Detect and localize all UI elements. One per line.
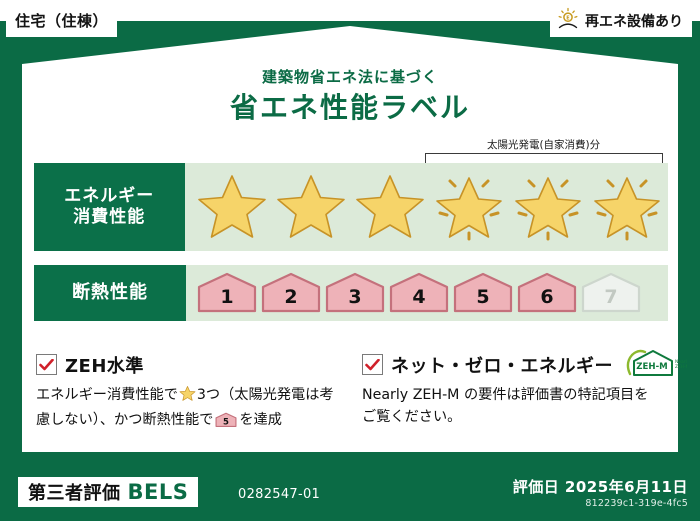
- bels-jp-label: 第三者評価: [28, 479, 121, 505]
- insulation-label: 断熱性能: [72, 282, 148, 305]
- energy-performance-label-cell: エネルギー 消費性能: [34, 163, 185, 251]
- building-type-label: 住宅（住棟）: [15, 10, 108, 31]
- zeh-m-logo-icon: ZEH-M Nearly ZEH-M: [623, 348, 687, 382]
- insulation-badge: 1: [196, 272, 258, 314]
- zeh-standard-section: ZEH水準 エネルギー消費性能で3つ（太陽光発電は考慮しない）、かつ断熱性能で5…: [36, 352, 336, 435]
- zeh-standard-heading-row: ZEH水準: [36, 352, 336, 377]
- net-zero-heading: ネット・ゼロ・エネルギー: [391, 352, 613, 378]
- insulation-badge: 5: [452, 272, 514, 314]
- net-zero-description: Nearly ZEH-M の要件は評価書の特記項目をご覧ください。: [362, 384, 662, 428]
- insulation-badge: 6: [516, 272, 578, 314]
- star-icon: [272, 167, 351, 247]
- insulation-badge: 4: [388, 272, 450, 314]
- bels-en-label: BELS: [128, 480, 189, 504]
- insulation-badge-value: 3: [348, 288, 361, 307]
- checkbox-checked-icon: [362, 354, 383, 375]
- insulation-badge-inactive: 7: [580, 272, 642, 314]
- zeh-standard-heading: ZEH水準: [65, 352, 144, 378]
- insulation-badge-value: 1: [220, 288, 233, 307]
- star-icon: [193, 167, 272, 247]
- insulation-badge-value: 2: [284, 288, 297, 307]
- renewable-equipment-label: 再エネ設備あり: [585, 11, 683, 31]
- insulation-badge-value: 7: [604, 288, 617, 307]
- energy-rating-panel: 太陽光発電(自家消費)分: [185, 163, 668, 251]
- star-icon-solar: [588, 167, 667, 247]
- zeh-standard-description: エネルギー消費性能で3つ（太陽光発電は考慮しない）、かつ断熱性能で5を達成: [36, 384, 336, 435]
- zeh-desc-part3: を達成: [239, 412, 282, 428]
- renewable-equipment-badge: E 再エネ設備あり: [550, 4, 692, 37]
- energy-label-line2: 消費性能: [73, 207, 145, 228]
- net-zero-heading-row: ネット・ゼロ・エネルギー ZEH-M Nearly ZEH-M: [362, 352, 662, 377]
- insulation-badge: 3: [324, 272, 386, 314]
- energy-star-rating: [193, 167, 667, 247]
- insulation-badge-value: 5: [476, 288, 489, 307]
- label-subtitle: 建築物省エネ法に基づく: [0, 66, 700, 87]
- bels-certificate-number: 0282547-01: [238, 487, 320, 502]
- svg-text:E: E: [566, 15, 570, 21]
- evaluation-hash: 812239c1-319e-4fc5: [513, 498, 688, 509]
- insulation-badge: 2: [260, 272, 322, 314]
- net-zero-energy-section: ネット・ゼロ・エネルギー ZEH-M Nearly ZEH-M Nearly Z…: [362, 352, 662, 428]
- solar-sun-icon: E: [556, 7, 580, 35]
- star-icon-solar: [509, 167, 588, 247]
- svg-text:ZEH-M: ZEH-M: [675, 364, 687, 370]
- svg-text:5: 5: [223, 417, 229, 427]
- energy-performance-row: エネルギー 消費性能 太陽光発電(自家消費)分: [34, 163, 668, 251]
- page-title: 省エネ性能ラベル: [0, 86, 700, 126]
- insulation-badge-value: 6: [540, 288, 553, 307]
- insulation-grade-badges: 1 2 3 4: [196, 272, 642, 314]
- zeh-desc-part1: エネルギー消費性能で: [36, 387, 178, 403]
- energy-label-line1: エネルギー: [64, 186, 154, 207]
- insulation-rating-panel: 1 2 3 4: [186, 265, 668, 321]
- inline-star-icon: [179, 390, 196, 406]
- svg-text:ZEH-M: ZEH-M: [636, 362, 667, 372]
- energy-performance-label: 住宅（住棟） E 再エネ設備あり 建築物省エネ法に基づく 省エネ性能ラベル: [0, 0, 700, 521]
- insulation-performance-label-cell: 断熱性能: [34, 265, 186, 321]
- bels-certification-chip: 第三者評価 BELS: [18, 477, 198, 507]
- evaluation-date: 評価日 2025年6月11日: [513, 476, 688, 497]
- inline-insulation-badge-icon: 5: [215, 416, 237, 432]
- evaluation-info: 評価日 2025年6月11日 812239c1-319e-4fc5: [513, 476, 688, 509]
- insulation-performance-row: 断熱性能 1 2: [34, 265, 668, 321]
- building-type-chip: 住宅（住棟）: [6, 4, 117, 37]
- star-icon: [351, 167, 430, 247]
- star-icon-solar: [430, 167, 509, 247]
- checkbox-checked-icon: [36, 354, 57, 375]
- insulation-badge-value: 4: [412, 288, 425, 307]
